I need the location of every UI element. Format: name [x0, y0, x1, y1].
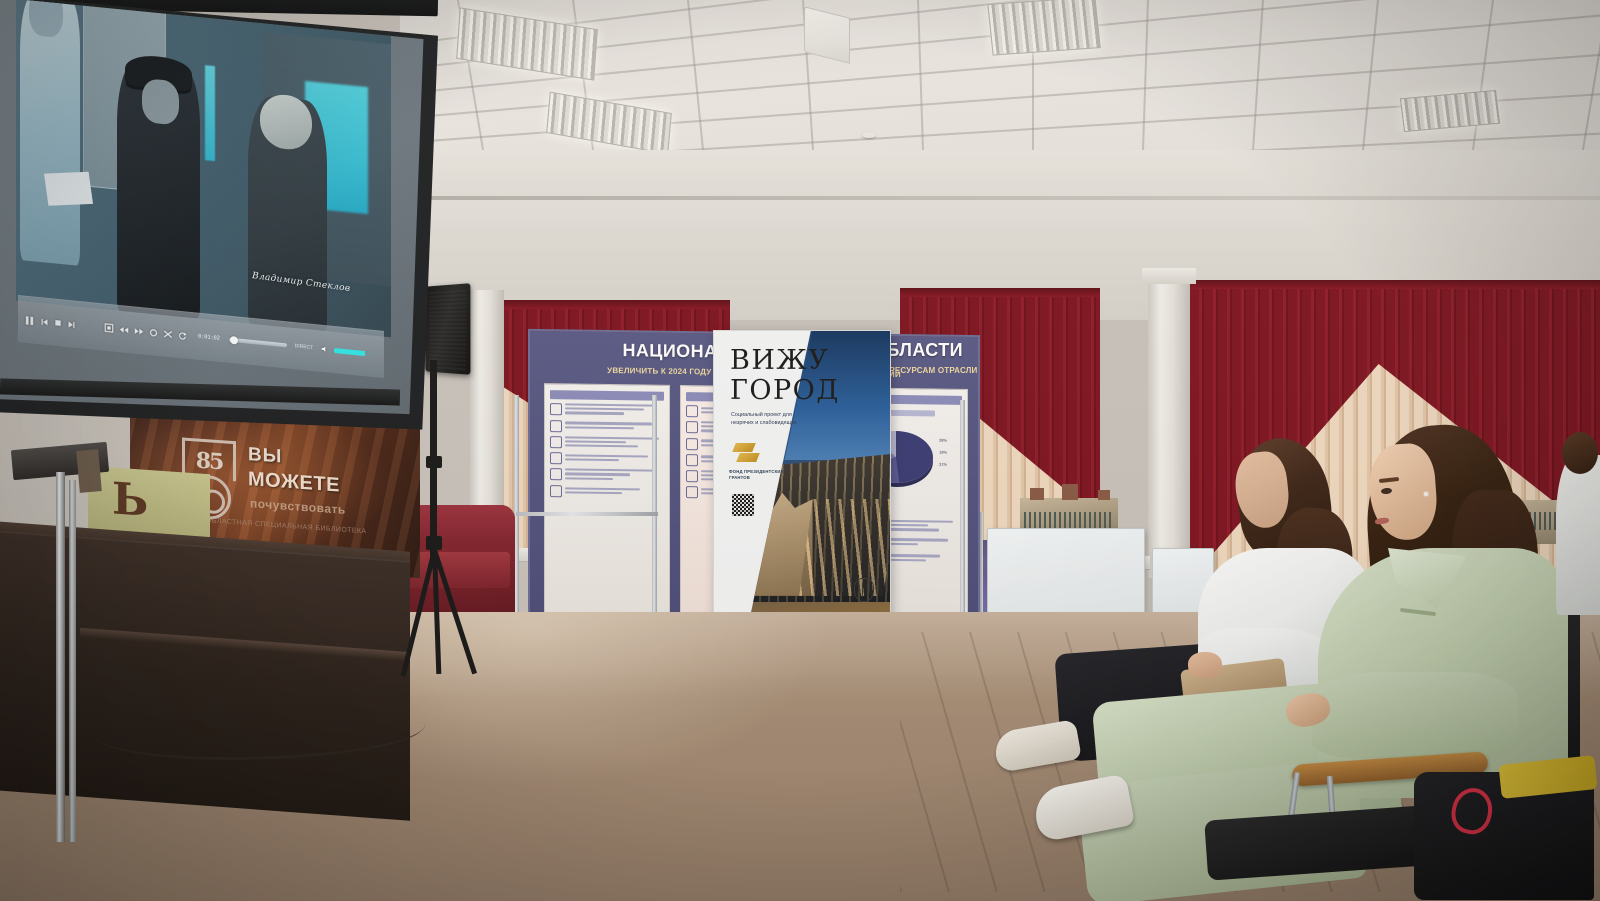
ceiling-light-panel	[987, 0, 1100, 56]
projection-screen-assembly: Владимир Стеклов	[0, 0, 450, 444]
banner-subtitle: Социальный проект для незрячих и слабови…	[731, 411, 799, 427]
next-button[interactable]	[67, 320, 76, 330]
record-button[interactable]	[149, 328, 158, 338]
tripod-leg	[401, 549, 437, 676]
volume-icon[interactable]	[321, 345, 329, 354]
model-roof	[1030, 488, 1044, 500]
playback-time: 0:01:02	[198, 334, 220, 342]
banner-line1: ВЫ	[248, 444, 282, 468]
repeat-button[interactable]	[178, 330, 187, 340]
lyre-logo-icon	[854, 578, 874, 602]
blind-rail	[500, 300, 730, 309]
easel-crossbar	[516, 512, 658, 516]
tripod-clamp	[426, 456, 442, 468]
banner-title-line2: ГОРОД	[730, 377, 840, 405]
attendee-earring	[1424, 492, 1428, 496]
previous-button[interactable]	[40, 317, 49, 327]
volume-mode-label: DIRECT	[295, 343, 314, 351]
mic-pole	[69, 480, 76, 842]
model-roof	[1098, 490, 1110, 500]
mic-pole	[56, 472, 65, 842]
banner-title-line1: ВИЖУ	[730, 347, 829, 375]
attendee-hand	[1188, 652, 1222, 678]
video-character-left	[20, 0, 80, 266]
shuffle-button[interactable]	[163, 329, 173, 339]
attendee-arm	[1312, 672, 1518, 758]
attendee-background-head	[1562, 432, 1598, 474]
video-prop-paper	[44, 172, 93, 206]
easel-leg	[960, 400, 965, 640]
scene-root: НАЦИОНАЛЬНЫЙ ПРОЕКТ « УВЕЛИЧИТЬ К 2024 Г…	[0, 0, 1600, 901]
rollup-banner-vizhu-gorod: ВИЖУ ГОРОД Социальный проект для незрячи…	[713, 330, 891, 655]
wall-letter: Ь	[112, 477, 148, 524]
projection-screen: Владимир Стеклов	[0, 0, 430, 427]
smoke-detector-icon	[862, 132, 876, 138]
qr-code-icon	[732, 494, 754, 516]
stop-button[interactable]	[54, 319, 62, 328]
controls-spacer	[81, 325, 99, 327]
wall-pillar	[1148, 278, 1190, 578]
seek-handle[interactable]	[230, 336, 238, 345]
fast-forward-button[interactable]	[134, 326, 144, 336]
pause-button[interactable]	[24, 314, 35, 326]
banner-street-lights	[799, 499, 891, 596]
mic-flag	[76, 449, 102, 493]
video-light-strip	[205, 65, 214, 161]
tripod-clamp	[426, 536, 442, 550]
attendee-background	[1556, 455, 1600, 615]
blind-rail	[900, 288, 1100, 297]
fund-name-label: ФОНД ПРЕЗИДЕНТСКИХ ГРАНТОВ	[729, 469, 795, 481]
rewind-button[interactable]	[119, 325, 129, 335]
model-windows	[1024, 512, 1114, 528]
poster-title-right: ОБЛАСТИ	[872, 336, 1012, 364]
seek-bar[interactable]	[229, 338, 287, 348]
pillar-capital	[1142, 268, 1196, 284]
volume-slider[interactable]	[334, 348, 378, 357]
blind-rail	[1190, 280, 1600, 289]
model-roof	[1062, 484, 1078, 500]
fullscreen-button[interactable]	[104, 323, 114, 334]
poster-subtitle-right: ЫМ РЕСУРСАМ ОТРАСЛИ	[872, 362, 1012, 378]
presidential-grants-fund-logo	[732, 441, 762, 467]
easel-leg	[652, 395, 657, 640]
projected-video: Владимир Стеклов	[16, 0, 391, 338]
microphone-stand	[38, 432, 98, 842]
